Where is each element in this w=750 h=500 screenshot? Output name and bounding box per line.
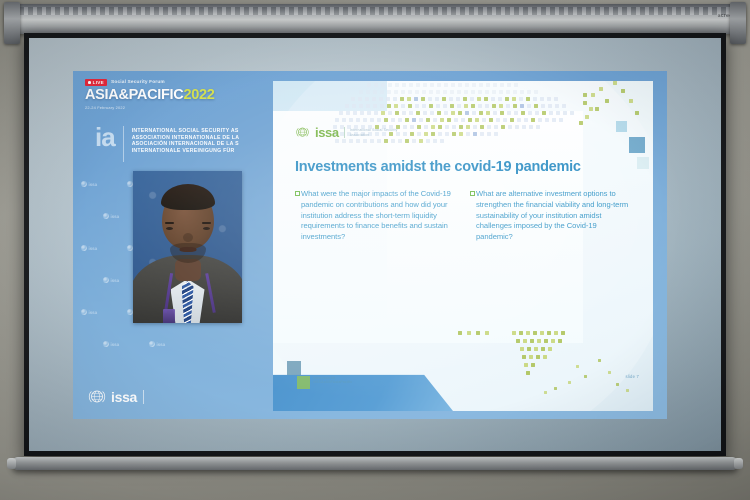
map-dot	[519, 331, 523, 335]
watermark-label: issa	[89, 182, 98, 187]
projection-screen-frame: LIVE Social Security Forum ASIA&PACIFIC2…	[24, 33, 726, 456]
live-badge: LIVE	[85, 79, 107, 86]
map-dot	[595, 107, 599, 111]
slide-bullet-column-left: What were the major impacts of the Covid…	[295, 189, 460, 243]
map-dot	[485, 104, 489, 108]
map-dot	[494, 132, 498, 136]
map-dot	[471, 90, 475, 94]
map-dot	[505, 97, 509, 101]
map-dot	[356, 118, 360, 122]
map-dot	[414, 97, 418, 101]
map-dot	[437, 83, 441, 87]
powerpoint-slide: issa International Social Security Assoc…	[273, 81, 653, 411]
map-dot	[452, 132, 456, 136]
map-dot	[480, 132, 484, 136]
map-dot	[519, 97, 523, 101]
map-dot	[530, 339, 534, 343]
map-dot	[621, 89, 625, 93]
map-dot	[415, 104, 419, 108]
map-dot	[528, 111, 532, 115]
map-dot	[471, 104, 475, 108]
map-dot	[486, 111, 490, 115]
map-dot	[349, 118, 353, 122]
map-dot	[503, 118, 507, 122]
map-dot	[468, 118, 472, 122]
map-dot	[379, 97, 383, 101]
slide-footer-hashtag: #ISSAxSSFAsiaPacific	[313, 380, 352, 385]
org-mark-letters: ia	[95, 126, 115, 148]
event-title-main: ASIA&PACIFIC	[85, 87, 183, 103]
map-dot	[388, 111, 392, 115]
map-dot	[585, 115, 589, 119]
map-dot	[555, 104, 559, 108]
map-dot	[608, 371, 611, 374]
map-dot	[522, 355, 526, 359]
map-dot	[351, 97, 355, 101]
map-dot	[473, 132, 477, 136]
speaker-eye-left	[203, 227, 210, 230]
slide-bullet-item: What were the major impacts of the Covid…	[295, 189, 460, 243]
map-dot	[401, 90, 405, 94]
map-dot	[457, 104, 461, 108]
map-dot	[402, 83, 406, 87]
map-dot	[576, 365, 579, 368]
watermark-label: issa	[157, 342, 166, 347]
speaker-brow-left	[202, 222, 211, 224]
map-dot	[339, 111, 343, 115]
map-dot	[463, 97, 467, 101]
map-dot	[365, 97, 369, 101]
slide-bullet-item: What are alternative investment options …	[470, 189, 635, 243]
divider	[344, 127, 345, 138]
map-dot	[542, 111, 546, 115]
map-dot	[380, 104, 384, 108]
globe-laurel-green-icon	[295, 125, 310, 140]
map-dot	[491, 97, 495, 101]
map-dot	[464, 90, 468, 94]
backdrop-watermark-logo: issa	[81, 181, 97, 187]
watermark-label: issa	[111, 214, 120, 219]
map-dot	[402, 111, 406, 115]
map-dot	[400, 97, 404, 101]
bullet-square-icon	[470, 191, 475, 196]
slide-brand-word: issa	[315, 125, 339, 140]
speaker-eye-right	[166, 227, 173, 230]
map-dot	[381, 83, 385, 87]
org-name-fr: ASSOCIATION INTERNATIONALE DE LA	[132, 135, 240, 141]
speaker-video-tile[interactable]	[133, 171, 242, 323]
map-dot	[537, 339, 541, 343]
map-dot	[498, 97, 502, 101]
map-dot	[409, 83, 413, 87]
backdrop-watermark-logo: issa	[103, 341, 119, 347]
map-dot	[506, 90, 510, 94]
map-dot	[445, 125, 449, 129]
map-dot	[373, 104, 377, 108]
speaker-brow-right	[165, 222, 174, 224]
map-dot	[526, 331, 530, 335]
map-dot	[433, 118, 437, 122]
watermark-globe-icon	[103, 341, 109, 347]
map-dot	[366, 104, 370, 108]
map-dot	[558, 339, 562, 343]
map-dot	[536, 355, 540, 359]
globe-laurel-icon	[87, 387, 107, 407]
map-dot	[451, 111, 455, 115]
map-dot	[442, 97, 446, 101]
map-dot	[554, 331, 558, 335]
map-dot	[387, 104, 391, 108]
map-dot	[436, 104, 440, 108]
map-dot	[436, 90, 440, 94]
map-dot	[431, 125, 435, 129]
map-dot	[456, 97, 460, 101]
map-dot	[548, 347, 552, 351]
map-dot	[426, 118, 430, 122]
mount-bracket-left-icon	[4, 2, 20, 44]
map-dot	[438, 132, 442, 136]
map-dot	[554, 387, 557, 390]
screen-weight-bar	[12, 457, 738, 470]
mount-bracket-right-icon	[730, 2, 746, 44]
map-dot	[423, 83, 427, 87]
map-dot	[473, 125, 477, 129]
watermark-globe-icon	[149, 341, 155, 347]
organization-name-block: ia INTERNATIONAL SOCIAL SECURITY AS ASSO…	[95, 126, 239, 162]
map-dot	[534, 347, 538, 351]
backdrop-watermark-logo: issa	[81, 245, 97, 251]
slide-title: Investments amidst the covid-19 pandemic	[295, 159, 581, 175]
map-dot	[533, 331, 537, 335]
map-dot	[377, 118, 381, 122]
map-dot	[526, 371, 530, 375]
world-map-dot-pattern-top	[333, 81, 653, 167]
map-dot	[545, 118, 549, 122]
map-dot	[476, 331, 480, 335]
map-dot	[475, 118, 479, 122]
map-dot	[599, 87, 603, 91]
slide-brand-logo: issa International Social Security Assoc…	[295, 125, 404, 140]
map-dot	[384, 118, 388, 122]
map-dot	[554, 97, 558, 101]
map-dot	[423, 111, 427, 115]
map-dot	[342, 118, 346, 122]
map-dot	[583, 93, 587, 97]
map-dot	[461, 118, 465, 122]
event-dates: 22-24 February 2022	[85, 105, 215, 110]
backdrop-watermark-logo: issa	[81, 309, 97, 315]
map-dot	[458, 331, 462, 335]
map-dot	[454, 118, 458, 122]
map-dot	[410, 125, 414, 129]
map-dot	[520, 347, 524, 351]
map-dot	[514, 83, 518, 87]
map-dot	[466, 132, 470, 136]
map-dot	[353, 111, 357, 115]
map-dot	[429, 90, 433, 94]
map-dot	[451, 83, 455, 87]
forum-label: Social Security Forum	[111, 80, 165, 85]
map-dot	[556, 111, 560, 115]
map-dot	[540, 331, 544, 335]
watermark-globe-icon	[81, 309, 87, 315]
map-dot	[605, 99, 609, 103]
map-dot	[547, 331, 551, 335]
webinar-footer-logo: issa	[87, 387, 144, 407]
map-dot	[591, 93, 595, 97]
map-dot	[452, 125, 456, 129]
map-dot	[513, 104, 517, 108]
map-dot	[540, 97, 544, 101]
map-dot	[527, 90, 531, 94]
map-dot	[485, 90, 489, 94]
map-dot	[506, 104, 510, 108]
map-dot	[501, 125, 505, 129]
map-dot	[478, 104, 482, 108]
event-header: LIVE Social Security Forum ASIA&PACIFIC2…	[85, 79, 215, 110]
map-dot	[541, 104, 545, 108]
map-dot	[500, 111, 504, 115]
map-dot	[410, 132, 414, 136]
map-dot	[598, 359, 601, 362]
map-dot	[543, 355, 547, 359]
projection-screen-surface: LIVE Social Security Forum ASIA&PACIFIC2…	[29, 38, 721, 451]
map-dot	[408, 90, 412, 94]
divider	[123, 126, 124, 162]
map-dot	[616, 383, 619, 386]
map-dot	[521, 111, 525, 115]
live-row: LIVE Social Security Forum	[85, 79, 215, 86]
map-dot	[520, 104, 524, 108]
map-dot	[428, 97, 432, 101]
map-dot	[531, 118, 535, 122]
map-dot	[570, 111, 574, 115]
map-dot	[499, 90, 503, 94]
map-dot	[534, 104, 538, 108]
map-dot	[479, 83, 483, 87]
map-dot	[548, 104, 552, 108]
map-dot	[563, 111, 567, 115]
divider	[143, 390, 144, 404]
map-dot	[552, 118, 556, 122]
map-dot	[507, 111, 511, 115]
map-dot	[398, 118, 402, 122]
map-dot	[415, 90, 419, 94]
map-dot	[449, 97, 453, 101]
map-dot	[515, 125, 519, 129]
map-dot	[534, 90, 538, 94]
map-dot	[457, 90, 461, 94]
map-dot	[458, 111, 462, 115]
map-dot	[479, 111, 483, 115]
map-dot	[359, 90, 363, 94]
slide-footer-square-blue	[287, 361, 301, 375]
map-dot	[430, 111, 434, 115]
map-dot	[450, 90, 454, 94]
map-dot	[484, 97, 488, 101]
map-dot	[380, 90, 384, 94]
speaker-hair	[161, 184, 215, 210]
map-dot	[381, 111, 385, 115]
slide-brand-tagline: International Social Security Associatio…	[350, 128, 404, 137]
slide-number: slide 7	[625, 374, 639, 379]
speaker-mouth	[179, 247, 196, 252]
map-dot	[440, 139, 444, 143]
map-dot	[533, 97, 537, 101]
accent-square-1	[629, 137, 645, 153]
watermark-label: issa	[111, 278, 120, 283]
org-name-es: ASOCIACIÓN INTERNACIONAL DE LA S	[132, 141, 240, 147]
map-dot	[422, 104, 426, 108]
map-dot	[458, 83, 462, 87]
map-dot	[374, 111, 378, 115]
map-dot	[426, 139, 430, 143]
map-dot	[480, 125, 484, 129]
map-dot	[512, 97, 516, 101]
map-dot	[412, 118, 416, 122]
map-dot	[579, 121, 583, 125]
slide-bullet-text-1: What were the major impacts of the Covid…	[301, 189, 460, 243]
map-dot	[486, 83, 490, 87]
map-dot	[549, 111, 553, 115]
map-dot	[512, 331, 516, 335]
map-dot	[367, 111, 371, 115]
map-dot	[387, 90, 391, 94]
map-dot	[551, 339, 555, 343]
map-dot	[386, 97, 390, 101]
map-dot	[443, 104, 447, 108]
map-dot	[522, 125, 526, 129]
map-dot	[516, 339, 520, 343]
map-dot	[561, 331, 565, 335]
map-dot	[443, 90, 447, 94]
map-dot	[635, 111, 639, 115]
map-dot	[412, 139, 416, 143]
map-dot	[465, 83, 469, 87]
map-dot	[470, 97, 474, 101]
speaker-figure	[133, 171, 242, 323]
map-dot	[345, 104, 349, 108]
map-dot	[437, 111, 441, 115]
map-dot	[544, 391, 547, 394]
map-dot	[589, 107, 593, 111]
map-dot	[424, 132, 428, 136]
map-dot	[524, 363, 528, 367]
map-dot	[409, 111, 413, 115]
map-dot	[626, 389, 629, 392]
map-dot	[395, 83, 399, 87]
map-dot	[489, 118, 493, 122]
map-dot	[416, 83, 420, 87]
map-dot	[416, 111, 420, 115]
projector-screen-housing: screen	[6, 4, 744, 34]
map-dot	[487, 125, 491, 129]
map-dot	[419, 139, 423, 143]
map-dot	[417, 132, 421, 136]
map-dot	[459, 132, 463, 136]
map-dot	[472, 83, 476, 87]
map-dot	[544, 339, 548, 343]
slide-bullet-columns: What were the major impacts of the Covid…	[295, 189, 635, 243]
map-dot	[531, 363, 535, 367]
conference-room-scene: screen LIVE Social Security Forum	[0, 0, 750, 500]
map-dot	[562, 104, 566, 108]
map-dot	[363, 118, 367, 122]
watermark-globe-icon	[81, 245, 87, 251]
speaker-badge	[163, 309, 175, 323]
event-title: ASIA&PACIFIC2022	[85, 88, 215, 103]
map-dot	[493, 83, 497, 87]
map-dot	[496, 118, 500, 122]
org-name-en: INTERNATIONAL SOCIAL SECURITY AS	[132, 128, 240, 134]
bullet-square-icon	[295, 191, 300, 196]
map-dot	[529, 125, 533, 129]
map-dot	[352, 104, 356, 108]
map-dot	[430, 83, 434, 87]
slide-footer: www.issa.int #ISSAxSSFAsiaPacific	[313, 376, 352, 385]
map-dot	[536, 125, 540, 129]
backdrop-watermark-logo: issa	[149, 341, 165, 347]
live-badge-label: LIVE	[93, 80, 104, 85]
map-dot	[360, 111, 364, 115]
map-dot	[465, 111, 469, 115]
map-dot	[499, 104, 503, 108]
map-dot	[477, 97, 481, 101]
map-dot	[335, 118, 339, 122]
map-dot	[391, 118, 395, 122]
map-dot	[583, 101, 587, 105]
map-dot	[464, 104, 468, 108]
map-dot	[372, 97, 376, 101]
map-dot	[478, 90, 482, 94]
map-dot	[492, 104, 496, 108]
accent-square-3	[637, 157, 649, 169]
slide-footer-square-green	[297, 376, 310, 389]
webinar-projection: LIVE Social Security Forum ASIA&PACIFIC2…	[73, 71, 667, 419]
map-dot	[433, 139, 437, 143]
map-dot	[373, 90, 377, 94]
backdrop-watermark-logo: issa	[103, 213, 119, 219]
map-dot	[366, 90, 370, 94]
map-dot	[466, 125, 470, 129]
map-dot	[613, 81, 617, 85]
backdrop-watermark-logo: issa	[103, 277, 119, 283]
slide-bullet-text-2: What are alternative investment options …	[476, 189, 635, 243]
speaker-nose	[183, 233, 193, 242]
map-dot	[467, 331, 471, 335]
map-dot	[517, 118, 521, 122]
map-dot	[500, 83, 504, 87]
world-map-dot-pattern-bottom	[458, 331, 648, 411]
webinar-footer-logo-text: issa	[111, 389, 137, 405]
map-dot	[527, 104, 531, 108]
map-dot	[444, 83, 448, 87]
map-dot	[482, 118, 486, 122]
map-dot	[444, 111, 448, 115]
map-dot	[431, 132, 435, 136]
map-dot	[527, 347, 531, 351]
map-dot	[568, 381, 571, 384]
watermark-globe-icon	[103, 277, 109, 283]
map-dot	[445, 132, 449, 136]
map-dot	[447, 118, 451, 122]
map-dot	[493, 111, 497, 115]
event-title-year: 2022	[183, 87, 214, 103]
map-dot	[358, 97, 362, 101]
map-dot	[459, 125, 463, 129]
map-dot	[510, 118, 514, 122]
org-name-de: INTERNATIONALE VEREINIGUNG FÜR	[132, 148, 240, 154]
